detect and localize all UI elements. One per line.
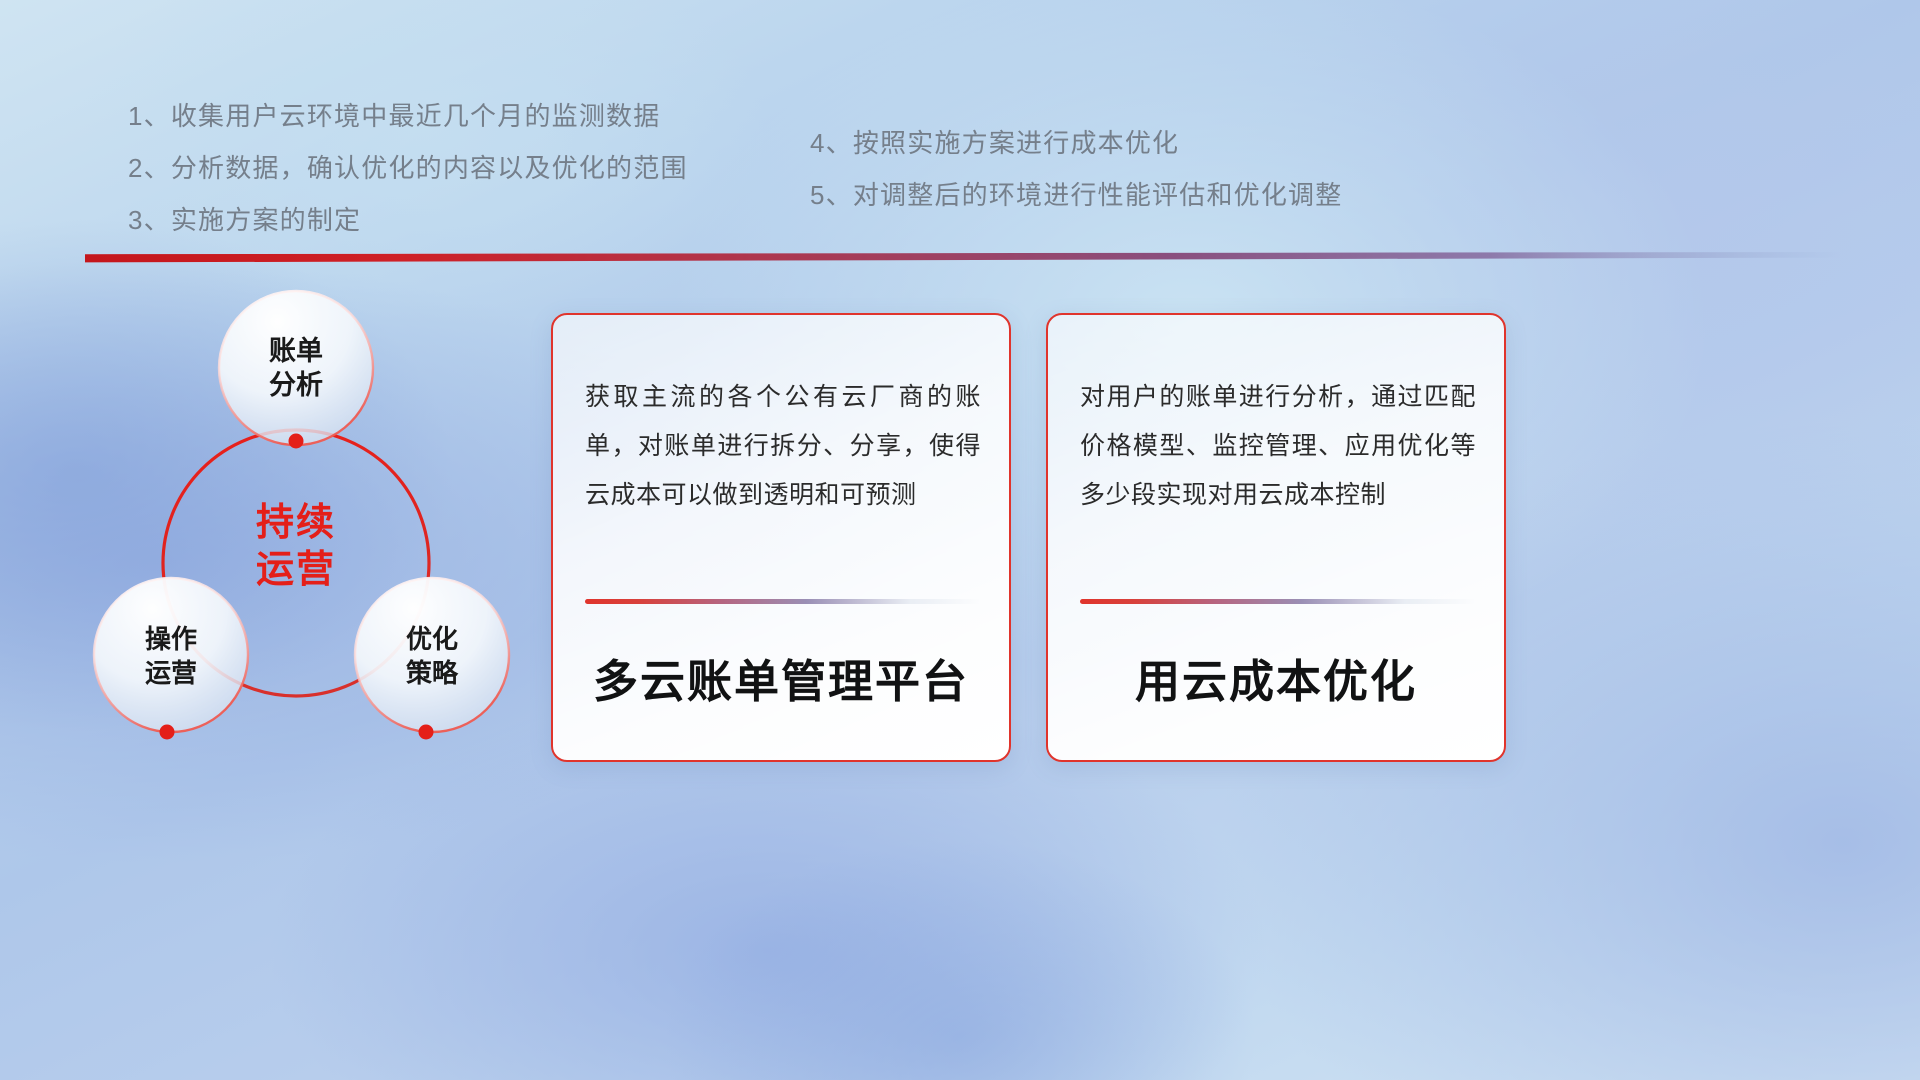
card-title: 用云成本优化 xyxy=(1048,645,1504,710)
step-item-4: 4、按照实施方案进行成本优化 xyxy=(810,130,1342,156)
venn-label-billing-analysis-line2: 分析 xyxy=(269,370,323,400)
card-body-text: 获取主流的各个公有云厂商的账单，对账单进行拆分、分享，使得云成本可以做到透明和可… xyxy=(585,373,981,519)
step-item-2: 2、分析数据，确认优化的内容以及优化的范围 xyxy=(128,155,688,181)
card-divider xyxy=(1080,599,1476,604)
venn-label-billing-analysis-line1: 账单 xyxy=(269,336,323,366)
card-title: 多云账单管理平台 xyxy=(553,645,1009,710)
card-multi-cloud-billing-platform[interactable]: 获取主流的各个公有云厂商的账单，对账单进行拆分、分享，使得云成本可以做到透明和可… xyxy=(551,313,1011,762)
venn-node-bottom-right xyxy=(419,725,434,740)
venn-circle-operation-ops xyxy=(94,578,248,732)
steps-left-column: 1、收集用户云环境中最近几个月的监测数据 2、分析数据，确认优化的内容以及优化的… xyxy=(128,103,688,259)
venn-node-top xyxy=(289,434,304,449)
red-divider-line xyxy=(85,252,1841,263)
card-cloud-cost-optimization[interactable]: 对用户的账单进行分析，通过匹配价格模型、监控管理、应用优化等多少段实现对用云成本… xyxy=(1046,313,1506,762)
venn-center-label-line2: 运营 xyxy=(256,549,336,591)
venn-circle-billing-analysis xyxy=(219,291,373,445)
step-item-3: 3、实施方案的制定 xyxy=(128,207,688,233)
steps-right-column: 4、按照实施方案进行成本优化 5、对调整后的环境进行性能评估和优化调整 xyxy=(810,130,1342,234)
venn-label-operation-ops-line2: 运营 xyxy=(145,658,197,688)
venn-label-operation-ops-line1: 操作 xyxy=(145,624,197,654)
venn-label-optimize-policy-line1: 优化 xyxy=(406,624,458,654)
venn-circle-optimize-policy xyxy=(355,578,509,732)
venn-center-label-line1: 持续 xyxy=(256,502,336,544)
card-divider xyxy=(585,599,981,604)
venn-node-bottom-left xyxy=(160,725,175,740)
step-item-1: 1、收集用户云环境中最近几个月的监测数据 xyxy=(128,103,688,129)
venn-label-optimize-policy-line2: 策略 xyxy=(406,658,459,688)
step-item-5: 5、对调整后的环境进行性能评估和优化调整 xyxy=(810,182,1342,208)
venn-diagram: 账单 分析 操作 运营 优化 策略 持续 运营 xyxy=(70,280,540,790)
card-body-text: 对用户的账单进行分析，通过匹配价格模型、监控管理、应用优化等多少段实现对用云成本… xyxy=(1080,373,1476,519)
